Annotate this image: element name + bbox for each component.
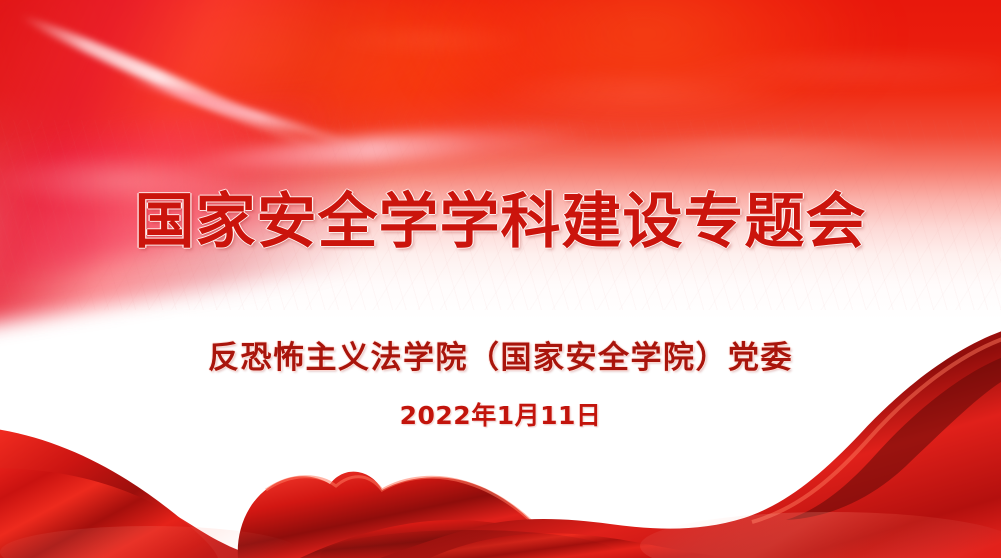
slide-date: 2022年1月11日 bbox=[400, 401, 602, 431]
title-slide: 国家安全学学科建设专题会 反恐怖主义法学院（国家安全学院）党委 2022年1月1… bbox=[0, 0, 1001, 558]
subtitle-container: 反恐怖主义法学院（国家安全学院）党委 bbox=[0, 340, 1001, 377]
page-title: 国家安全学学科建设专题会 bbox=[135, 190, 867, 255]
slide-content: 国家安全学学科建设专题会 反恐怖主义法学院（国家安全学院）党委 2022年1月1… bbox=[0, 0, 1001, 558]
date-container: 2022年1月11日 bbox=[0, 401, 1001, 431]
organization-name: 反恐怖主义法学院（国家安全学院）党委 bbox=[208, 340, 793, 377]
title-container: 国家安全学学科建设专题会 bbox=[0, 190, 1001, 255]
